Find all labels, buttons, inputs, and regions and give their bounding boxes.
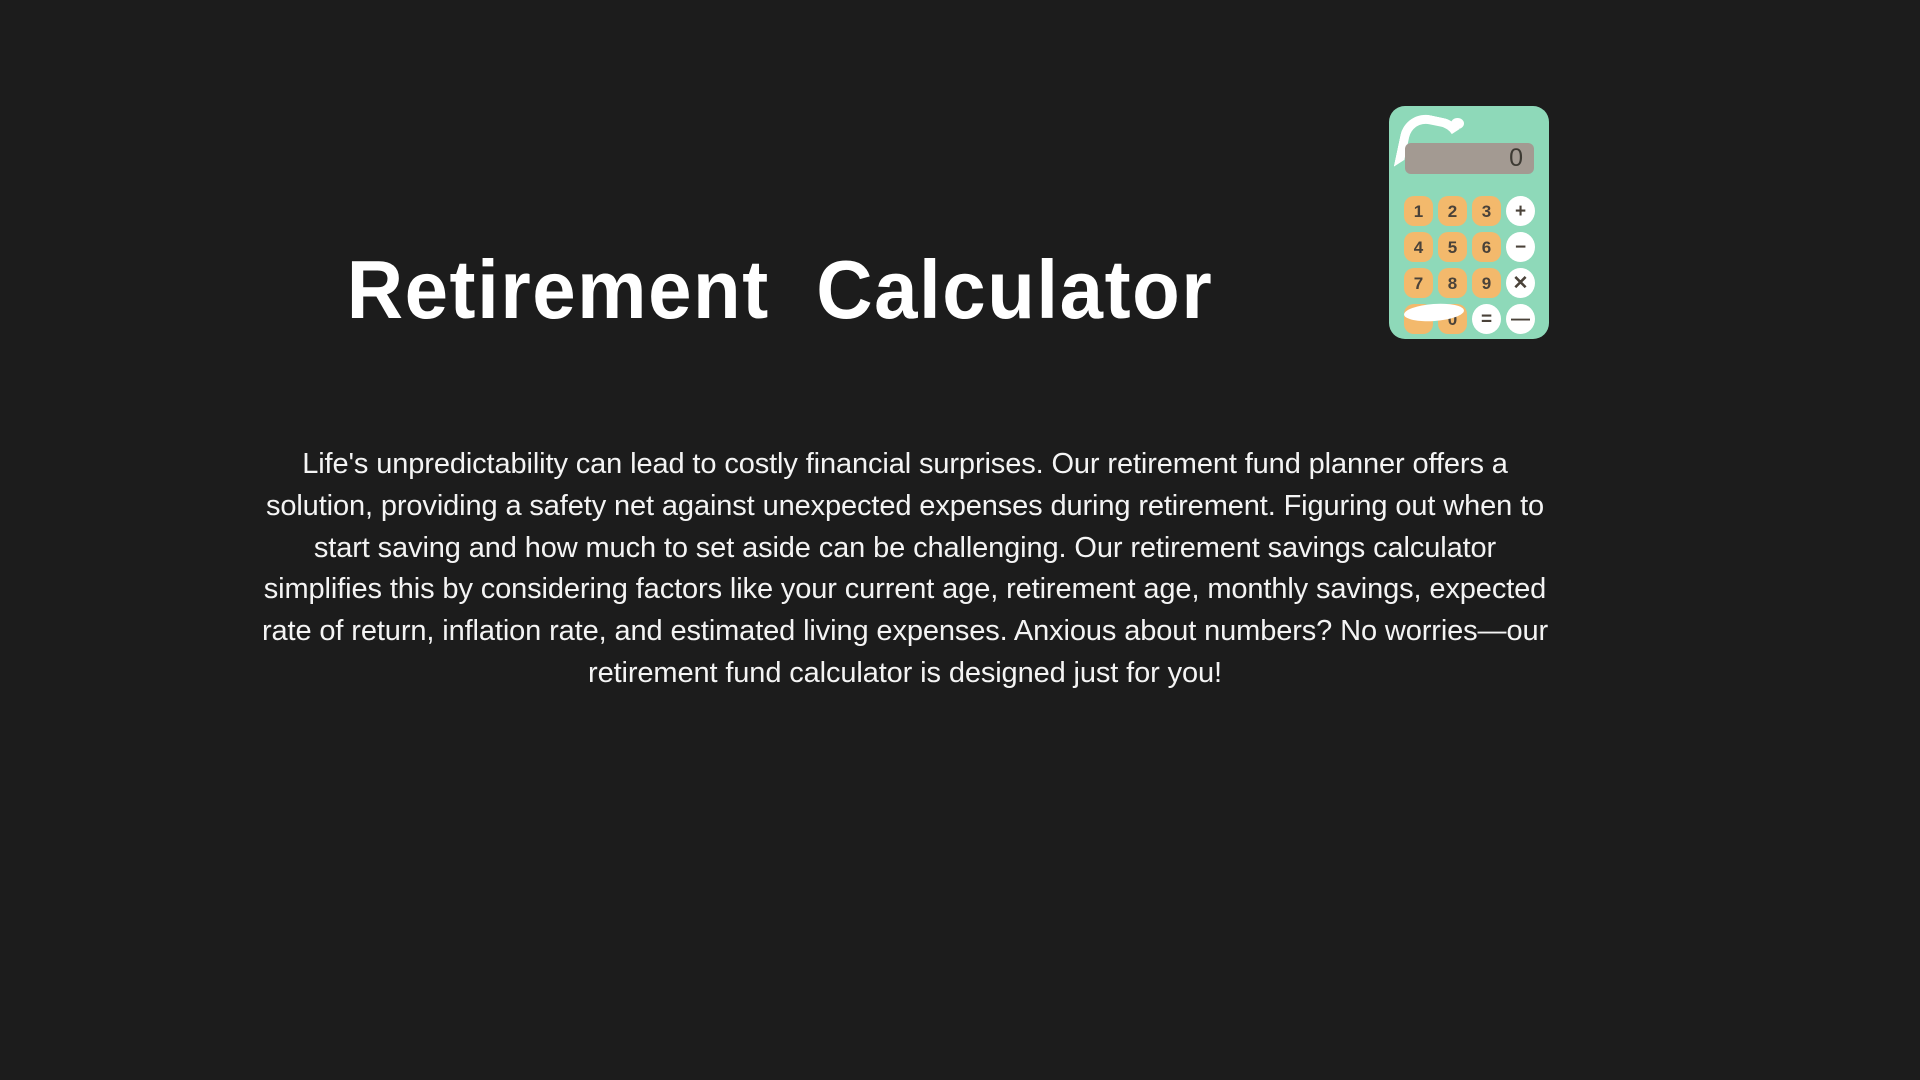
calc-key-minus: − [1506, 232, 1535, 262]
calculator-display: 0 [1405, 143, 1534, 174]
calc-key-4-label: 4 [1414, 239, 1423, 256]
calc-key-2: 2 [1438, 196, 1467, 226]
calc-key-9-label: 9 [1482, 275, 1491, 292]
calc-key-multiply: ✕ [1506, 268, 1535, 298]
calc-key-equals: = [1472, 304, 1501, 334]
calc-key-plus-label: + [1515, 202, 1526, 221]
calc-key-1: 1 [1404, 196, 1433, 226]
calculator-illustration: 0 123+456−789✕0=— [1389, 106, 1549, 339]
calc-key-plus: + [1506, 196, 1535, 226]
calc-key-9: 9 [1472, 268, 1501, 298]
calculator-gloss-dot-icon [1451, 118, 1464, 129]
calc-key-7: 7 [1404, 268, 1433, 298]
calc-key-5-label: 5 [1448, 239, 1457, 256]
calc-key-3: 3 [1472, 196, 1501, 226]
calc-key-7-label: 7 [1414, 275, 1423, 292]
calc-key-divide-label: — [1511, 310, 1530, 329]
calc-key-3-label: 3 [1482, 203, 1491, 220]
calc-key-2-label: 2 [1448, 203, 1457, 220]
calc-key-equals-label: = [1481, 310, 1492, 329]
page-title: Retirement Calculator [0, 248, 1560, 332]
calc-key-minus-label: − [1515, 238, 1526, 257]
calculator-display-value: 0 [1509, 146, 1523, 171]
intro-paragraph: Life's unpredictability can lead to cost… [255, 444, 1555, 695]
calc-key-5: 5 [1438, 232, 1467, 262]
calc-key-8: 8 [1438, 268, 1467, 298]
calc-key-4: 4 [1404, 232, 1433, 262]
page-root: Retirement Calculator 0 123+456−789✕0=— … [0, 0, 1920, 1080]
calc-key-multiply-label: ✕ [1513, 274, 1529, 293]
calc-key-6-label: 6 [1482, 239, 1491, 256]
calc-key-8-label: 8 [1448, 275, 1457, 292]
calc-key-6: 6 [1472, 232, 1501, 262]
calc-key-divide: — [1506, 304, 1535, 334]
calc-key-1-label: 1 [1414, 203, 1423, 220]
